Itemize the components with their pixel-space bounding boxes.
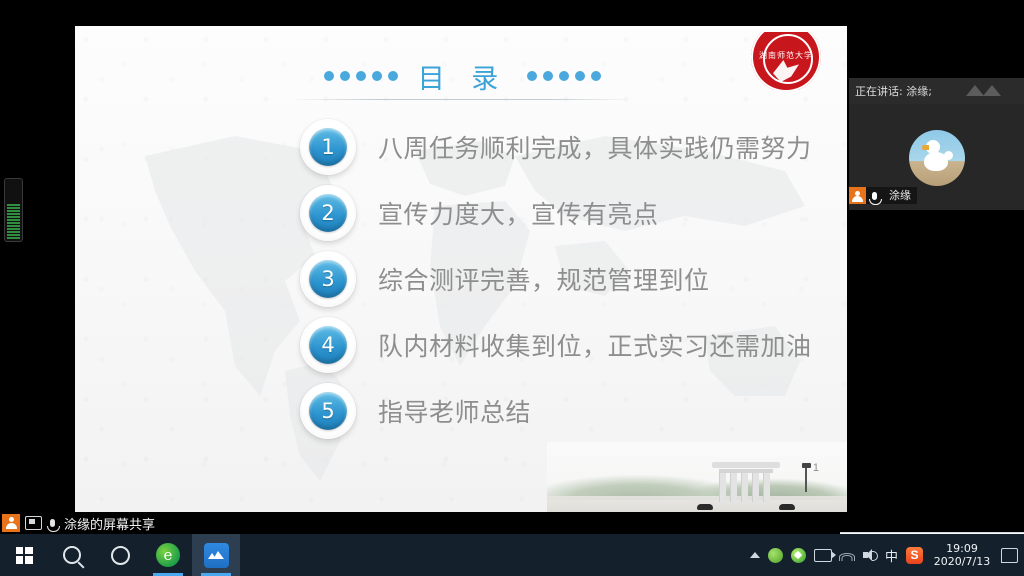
- item-number-badge: 1: [300, 119, 356, 175]
- page-title: 目 录: [418, 57, 508, 96]
- screen-share-status-bar: 涂缘的屏幕共享: [0, 512, 1024, 534]
- chevron-up-icon[interactable]: [750, 552, 760, 558]
- list-item-label: 八周任务顺利完成，具体实践仍需努力: [378, 129, 812, 165]
- university-logo-icon: 湖南师范大学: [743, 32, 829, 90]
- audio-level-meter: [4, 178, 23, 242]
- clock[interactable]: 19:09 2020/7/13: [931, 542, 993, 568]
- list-item-label: 队内材料收集到位，正式实习还需加油: [378, 327, 812, 363]
- taskbar-app-tencent-meeting[interactable]: [192, 534, 240, 576]
- clock-date: 2020/7/13: [934, 555, 990, 568]
- microphone-icon[interactable]: [50, 519, 55, 527]
- wifi-icon[interactable]: [840, 550, 855, 561]
- green-shield-icon[interactable]: [768, 548, 783, 563]
- search-icon[interactable]: [48, 534, 96, 576]
- action-center-icon[interactable]: [1001, 548, 1018, 563]
- duck-avatar-icon: [922, 140, 952, 174]
- green-update-icon[interactable]: [791, 548, 806, 563]
- sogou-tray-icon[interactable]: S: [906, 547, 923, 564]
- participant-name-bar: 涂缘: [849, 187, 917, 204]
- edge-icon: e: [156, 543, 180, 567]
- cortana-circle-icon[interactable]: [96, 534, 144, 576]
- item-number-badge: 2: [300, 185, 356, 241]
- item-number-badge: 4: [300, 317, 356, 373]
- share-status-text: 涂缘的屏幕共享: [64, 514, 155, 533]
- ime-mode-indicator[interactable]: 中: [885, 546, 898, 565]
- volume-icon[interactable]: [863, 549, 877, 561]
- microphone-icon[interactable]: [866, 187, 883, 204]
- list-item: 5 指导老师总结: [300, 378, 845, 444]
- clock-time: 19:09: [946, 542, 978, 555]
- list-item: 1 八周任务顺利完成，具体实践仍需努力: [300, 114, 845, 180]
- participant-name: 涂缘: [883, 187, 917, 204]
- list-item-label: 综合测评完善，规范管理到位: [378, 261, 710, 297]
- item-number-badge: 5: [300, 383, 356, 439]
- university-logo-text: 湖南师范大学: [756, 50, 816, 61]
- desktop-screen: 1 湖南师范大学 目 录 1 八周任务顺利完成，具体实践仍需: [0, 0, 1024, 576]
- system-tray[interactable]: 中 S 19:09 2020/7/13: [750, 542, 1024, 568]
- item-number-badge: 3: [300, 251, 356, 307]
- campus-photo: [547, 442, 847, 512]
- agenda-list: 1 八周任务顺利完成，具体实践仍需努力 2 宣传力度大，宣传有亮点 3 综合测评…: [300, 114, 845, 444]
- title-divider: [290, 99, 635, 100]
- title-dots-right: [527, 71, 601, 81]
- taskbar-app-edge-browser[interactable]: e: [144, 534, 192, 576]
- title-dots-left: [324, 71, 398, 81]
- windows-start-icon[interactable]: [0, 534, 48, 576]
- windows-taskbar[interactable]: e 中 S 19:09 2020/7/13: [0, 534, 1024, 576]
- video-panel-body[interactable]: 涂缘: [849, 104, 1024, 210]
- camera-device-icon[interactable]: [814, 549, 832, 562]
- list-item: 2 宣传力度大，宣传有亮点: [300, 180, 845, 246]
- video-overlay-panel[interactable]: 正在讲话: 涂缘; 涂缘: [849, 78, 1024, 210]
- shared-slide: 1 湖南师范大学 目 录 1 八周任务顺利完成，具体实践仍需: [75, 26, 847, 512]
- chevron-collapse-icon[interactable]: [966, 83, 1014, 99]
- person-badge-icon: [2, 514, 20, 532]
- video-panel-header: 正在讲话: 涂缘;: [849, 78, 1024, 104]
- list-item-label: 指导老师总结: [378, 393, 531, 429]
- speaking-label: 正在讲话: 涂缘;: [855, 83, 932, 99]
- page-number: 1: [813, 462, 819, 474]
- list-item: 3 综合测评完善，规范管理到位: [300, 246, 845, 312]
- list-item: 4 队内材料收集到位，正式实习还需加油: [300, 312, 845, 378]
- slide-title-row: 目 录: [290, 54, 635, 98]
- screen-share-icon[interactable]: [25, 516, 42, 530]
- list-item-label: 宣传力度大，宣传有亮点: [378, 195, 659, 231]
- avatar: [909, 130, 965, 186]
- person-badge-icon: [849, 187, 866, 204]
- tencent-meeting-icon: [204, 543, 229, 568]
